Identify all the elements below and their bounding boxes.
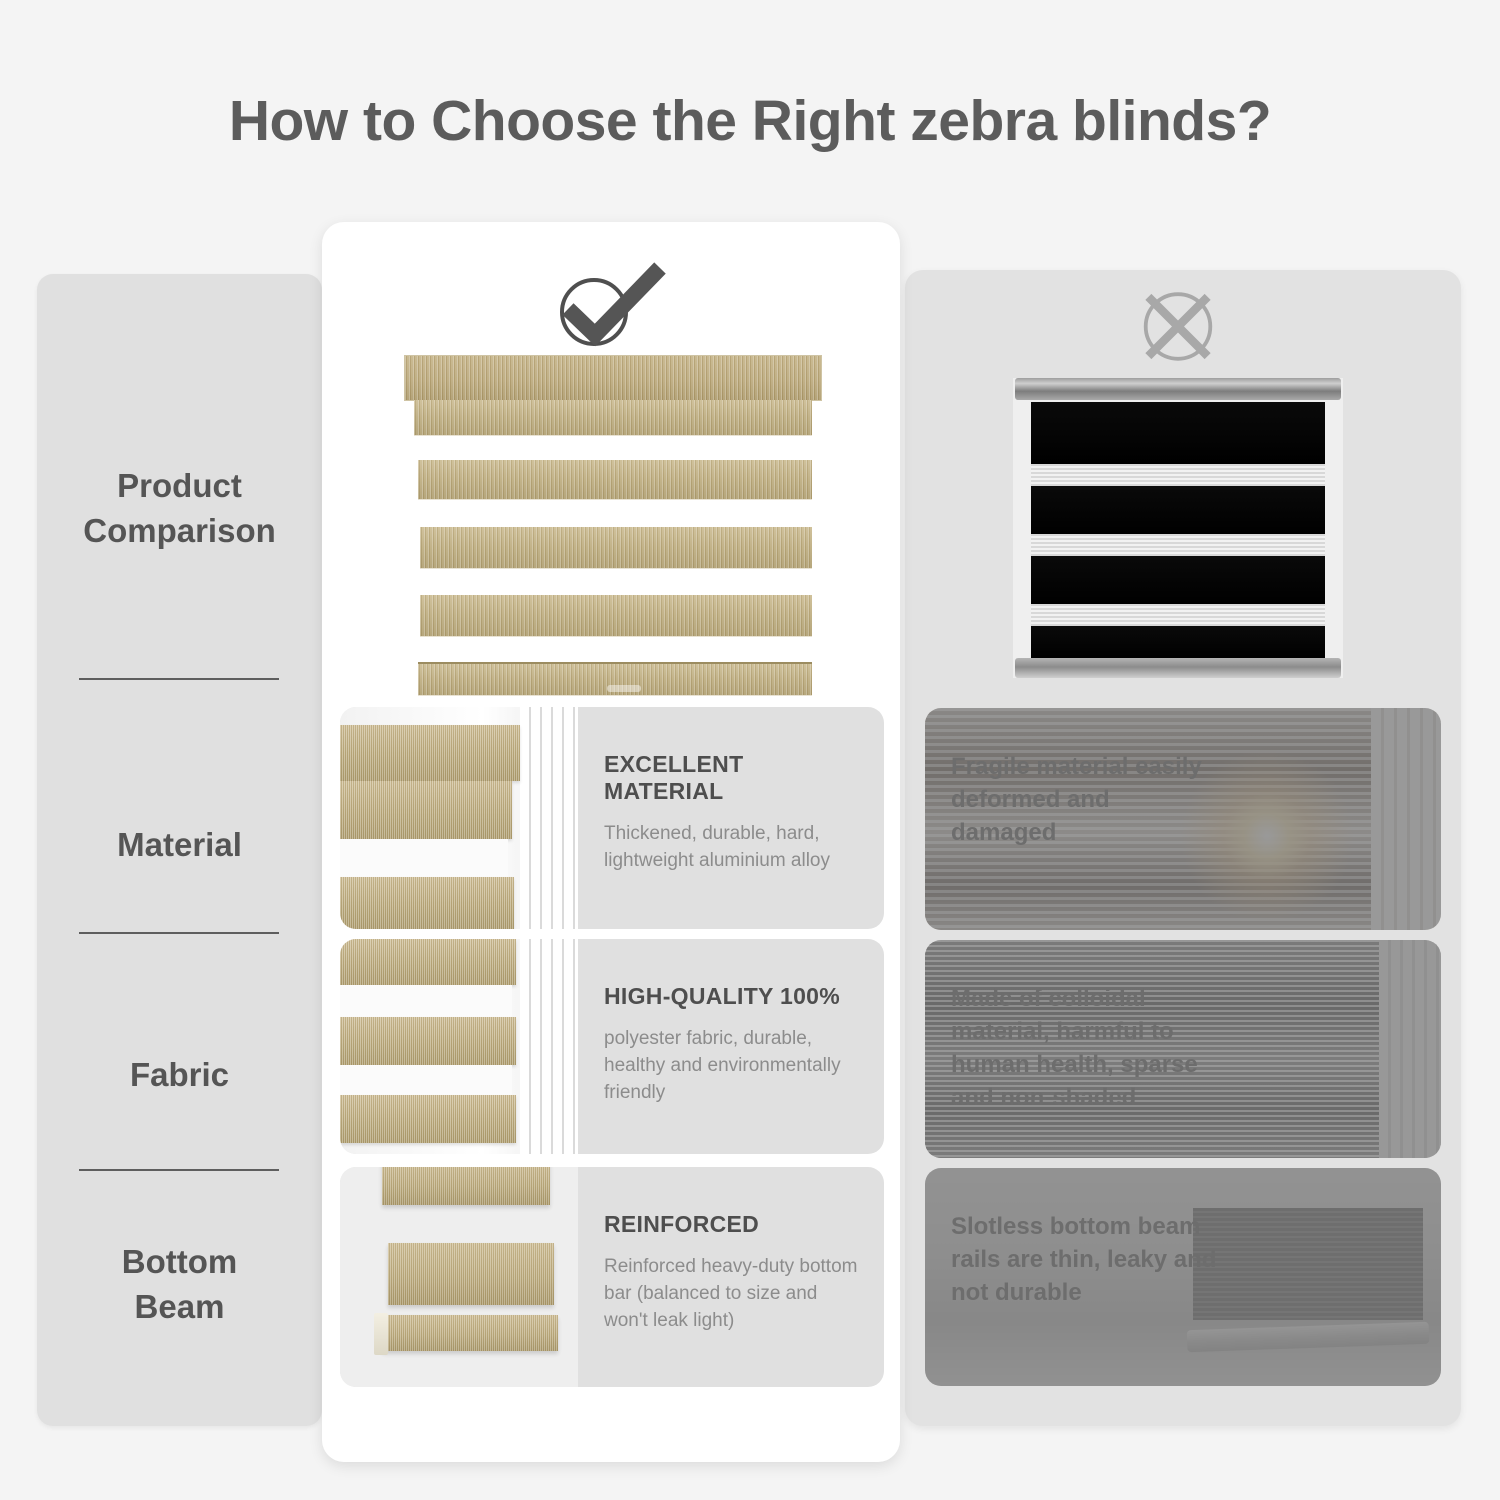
sidebar-divider-2 — [79, 932, 279, 934]
good-product-column: EXCELLENT MATERIAL Thickened, durable, h… — [322, 222, 900, 1462]
sidebar-divider-1 — [79, 678, 279, 680]
blind-slat — [340, 877, 514, 929]
blind-band-dark — [1031, 486, 1325, 534]
sidebar-divider-3 — [79, 1169, 279, 1171]
good-feature-text-bottom-beam: REINFORCED Reinforced heavy-duty bottom … — [578, 1167, 884, 1387]
bad-feature-text-material: Fragile material easily deformed and dam… — [951, 750, 1221, 849]
headrail — [1015, 378, 1341, 400]
cross-circle-icon — [1123, 279, 1233, 374]
good-feature-desc-material: Thickened, durable, hard, lightweight al… — [604, 821, 862, 875]
sidebar-item-material: Material — [37, 780, 322, 910]
bad-feature-bottom-beam: Slotless bottom beam rails are thin, lea… — [925, 1168, 1441, 1386]
blind-slat — [418, 460, 812, 500]
blind-slat — [388, 1243, 554, 1305]
good-feature-title-fabric: HIGH-QUALITY 100% — [604, 983, 862, 1010]
blind-band-sheer — [1031, 464, 1325, 486]
sidebar-label-material: Material — [117, 823, 242, 868]
page-title: How to Choose the Right zebra blinds? — [0, 88, 1500, 154]
beige-blind-bottom-beam-photo — [340, 1167, 578, 1387]
blind-slat — [340, 781, 512, 839]
blind-slat — [382, 1167, 550, 1205]
bad-feature-text-bottom-beam: Slotless bottom beam rails are thin, lea… — [951, 1210, 1221, 1309]
blind-band-sheer — [1031, 604, 1325, 626]
sidebar-label-fabric: Fabric — [130, 1053, 229, 1098]
good-feature-text-material: EXCELLENT MATERIAL Thickened, durable, h… — [578, 707, 884, 929]
blind-slat — [340, 725, 520, 781]
good-feature-fabric: HIGH-QUALITY 100% polyester fabric, dura… — [340, 939, 884, 1154]
blind-band-dark — [1031, 402, 1325, 464]
blind-slat — [420, 595, 812, 637]
good-feature-bottom-beam: REINFORCED Reinforced heavy-duty bottom … — [340, 1167, 884, 1387]
sidebar-item-fabric: Fabric — [37, 1010, 322, 1140]
blind-slat — [340, 939, 516, 985]
blind-band-sheer — [1031, 534, 1325, 556]
sidebar-label-bottom-beam: Bottom Beam — [122, 1240, 237, 1329]
sheer-band — [340, 839, 508, 877]
bottom-rail — [1015, 658, 1341, 678]
beige-blind-closeup-window-frame-photo — [340, 707, 578, 929]
bottom-beam — [418, 662, 812, 696]
beam-end-cap — [374, 1313, 388, 1355]
beige-blind-fabric-closeup-photo — [340, 939, 578, 1154]
bottom-beam — [382, 1315, 558, 1351]
blind-slat — [340, 1095, 516, 1143]
sidebar-item-product-comparison: Product Comparison — [37, 444, 322, 574]
bad-feature-material: Fragile material easily deformed and dam… — [925, 708, 1441, 930]
blind-band-dark — [1031, 626, 1325, 660]
blind-slat — [414, 400, 812, 436]
blind-band-dark — [1031, 556, 1325, 604]
good-feature-title-bottom-beam: REINFORCED — [604, 1211, 862, 1238]
bad-feature-text-fabric: Made of colloidal material, harmful to h… — [951, 982, 1221, 1114]
good-feature-desc-fabric: polyester fabric, durable, healthy and e… — [604, 1026, 862, 1107]
category-sidebar: Product Comparison Material Fabric Botto… — [37, 274, 322, 1426]
good-feature-title-material: EXCELLENT MATERIAL — [604, 751, 862, 805]
bad-feature-fabric: Made of colloidal material, harmful to h… — [925, 940, 1441, 1158]
sheer-band — [340, 985, 512, 1017]
blind-slat — [340, 1017, 516, 1065]
sidebar-label-product-comparison: Product Comparison — [83, 464, 276, 553]
sidebar-item-bottom-beam: Bottom Beam — [37, 1220, 322, 1350]
check-circle-icon — [548, 262, 668, 352]
sheer-band — [340, 1065, 512, 1095]
headrail — [404, 355, 822, 401]
black-zebra-blind-product-photo — [1013, 378, 1343, 678]
good-feature-text-fabric: HIGH-QUALITY 100% polyester fabric, dura… — [578, 939, 884, 1154]
bad-product-column: Fragile material easily deformed and dam… — [905, 270, 1461, 1426]
beige-zebra-blind-product-photo — [404, 355, 822, 705]
good-feature-desc-bottom-beam: Reinforced heavy-duty bottom bar (balanc… — [604, 1254, 862, 1335]
good-feature-material: EXCELLENT MATERIAL Thickened, durable, h… — [340, 707, 884, 929]
blind-slat — [420, 527, 812, 569]
